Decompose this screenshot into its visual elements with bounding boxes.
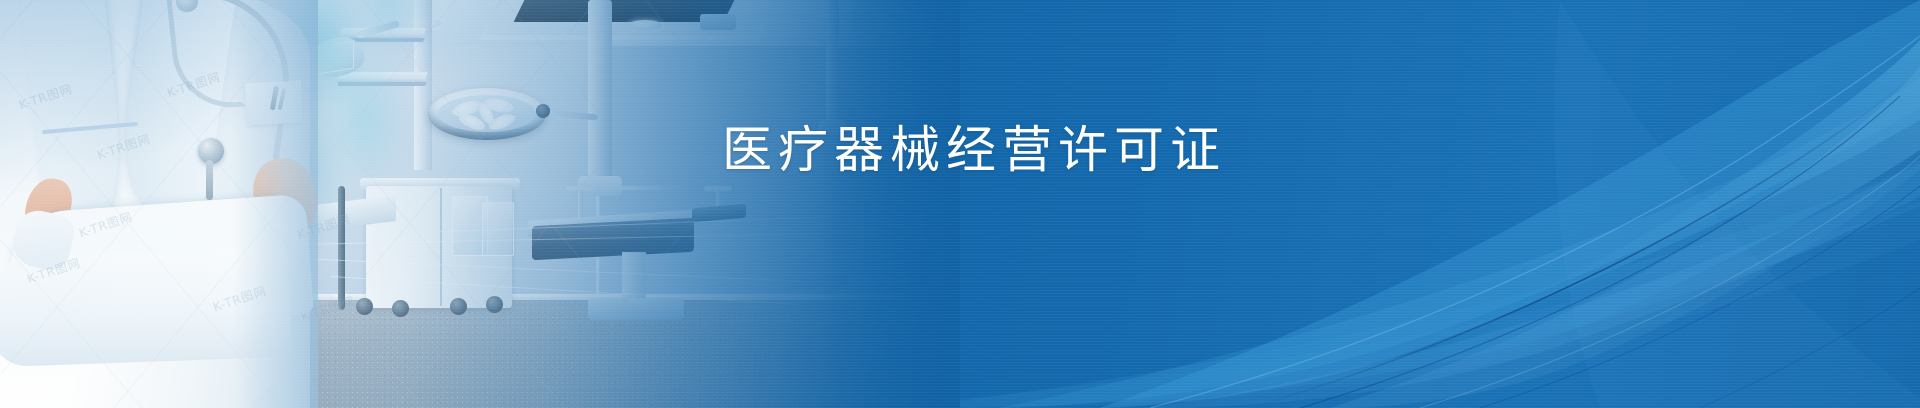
photo-to-blue-fade	[0, 0, 960, 408]
page-title: 医疗器械经营许可证	[722, 125, 1226, 175]
banner-title-container: 医疗器械经营许可证	[722, 112, 1422, 188]
operating-room-photo: K-TR图网 K-TR图网 K-TR图网 K-TR图网 K-TR图网 K-TR图…	[0, 0, 960, 408]
banner-root: K-TR图网 K-TR图网 K-TR图网 K-TR图网 K-TR图网 K-TR图…	[0, 0, 1920, 408]
photo-right-edge-fade	[820, 0, 960, 408]
